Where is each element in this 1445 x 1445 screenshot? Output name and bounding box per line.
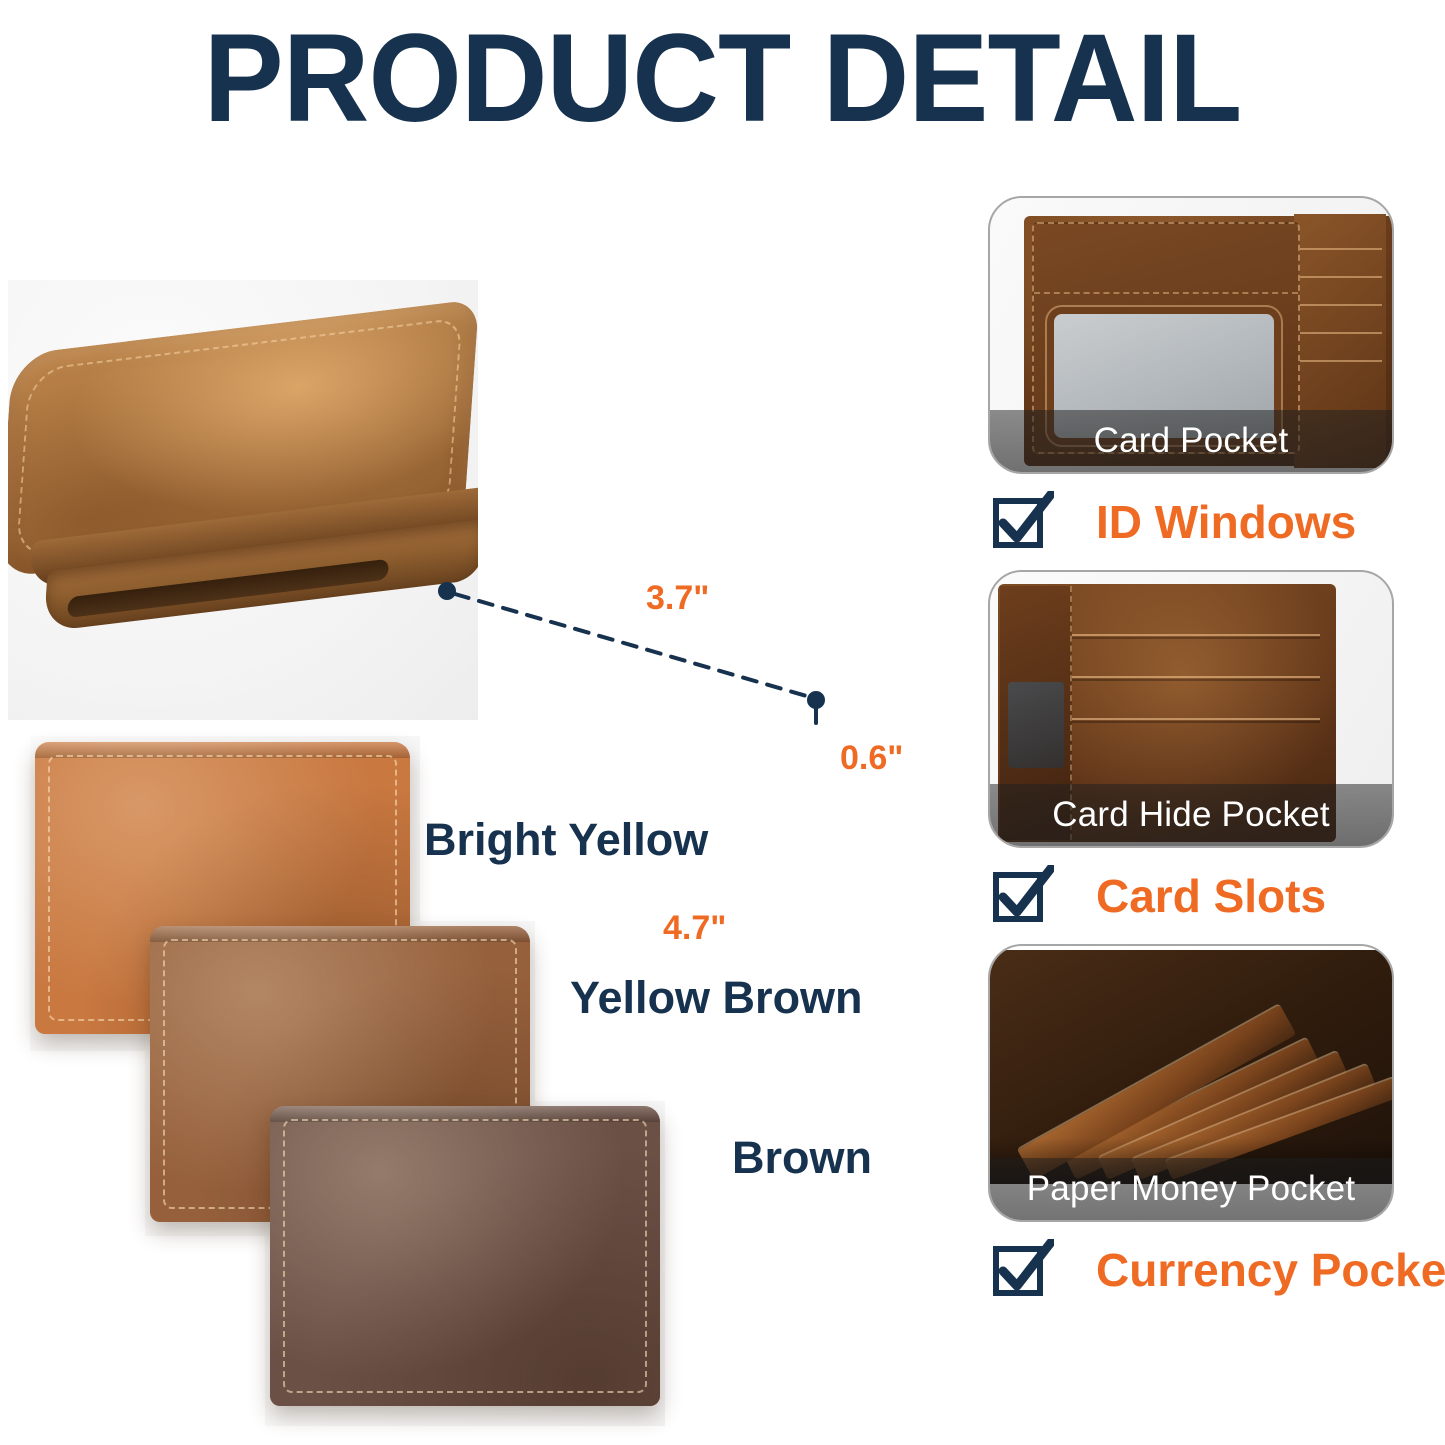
wallet-swatch-brown[interactable] bbox=[270, 1106, 660, 1406]
variant-label-brown: Brown bbox=[732, 1132, 872, 1184]
checkbox-checked-icon[interactable] bbox=[992, 865, 1054, 927]
variant-label-yellow-brown: Yellow Brown bbox=[570, 972, 863, 1024]
checkbox-checked-icon[interactable] bbox=[992, 491, 1054, 553]
feature-panel-card-pocket[interactable]: Card Pocket bbox=[988, 196, 1394, 474]
hero-product-section: 3.7" 0.6" 4.7" bbox=[0, 272, 940, 728]
feature-panel-paper-money-pocket[interactable]: Paper Money Pocket bbox=[988, 944, 1394, 1222]
feature-row-card-slots[interactable]: Card Slots bbox=[988, 848, 1394, 944]
feature-label-card-slots: Card Slots bbox=[1096, 869, 1326, 923]
feature-row-currency-pockets[interactable]: Currency Pockets bbox=[988, 1222, 1394, 1318]
caption-band: Card Pocket bbox=[990, 410, 1392, 472]
feature-panel-card-hide-pocket[interactable]: Card Hide Pocket bbox=[988, 570, 1394, 848]
dimension-lines bbox=[0, 272, 940, 728]
feature-label-id-windows: ID Windows bbox=[1096, 495, 1356, 549]
dimension-label-width: 3.7" bbox=[646, 579, 709, 618]
caption-band: Paper Money Pocket bbox=[990, 1158, 1392, 1220]
feature-list: Card Pocket ID Windows Card Hide Pocket bbox=[988, 196, 1394, 1318]
feature-label-currency-pockets: Currency Pockets bbox=[1096, 1243, 1445, 1297]
checkbox-checked-icon[interactable] bbox=[992, 1239, 1054, 1301]
panel-caption-card-pocket: Card Pocket bbox=[1094, 421, 1289, 461]
caption-band: Card Hide Pocket bbox=[990, 784, 1392, 846]
variant-label-bright-yellow: Bright Yellow bbox=[424, 814, 708, 866]
panel-caption-card-hide-pocket: Card Hide Pocket bbox=[1052, 795, 1330, 835]
feature-row-id-windows[interactable]: ID Windows bbox=[988, 474, 1394, 570]
page-title: PRODUCT DETAIL bbox=[29, 16, 1416, 141]
panel-caption-paper-money-pocket: Paper Money Pocket bbox=[1027, 1169, 1356, 1209]
